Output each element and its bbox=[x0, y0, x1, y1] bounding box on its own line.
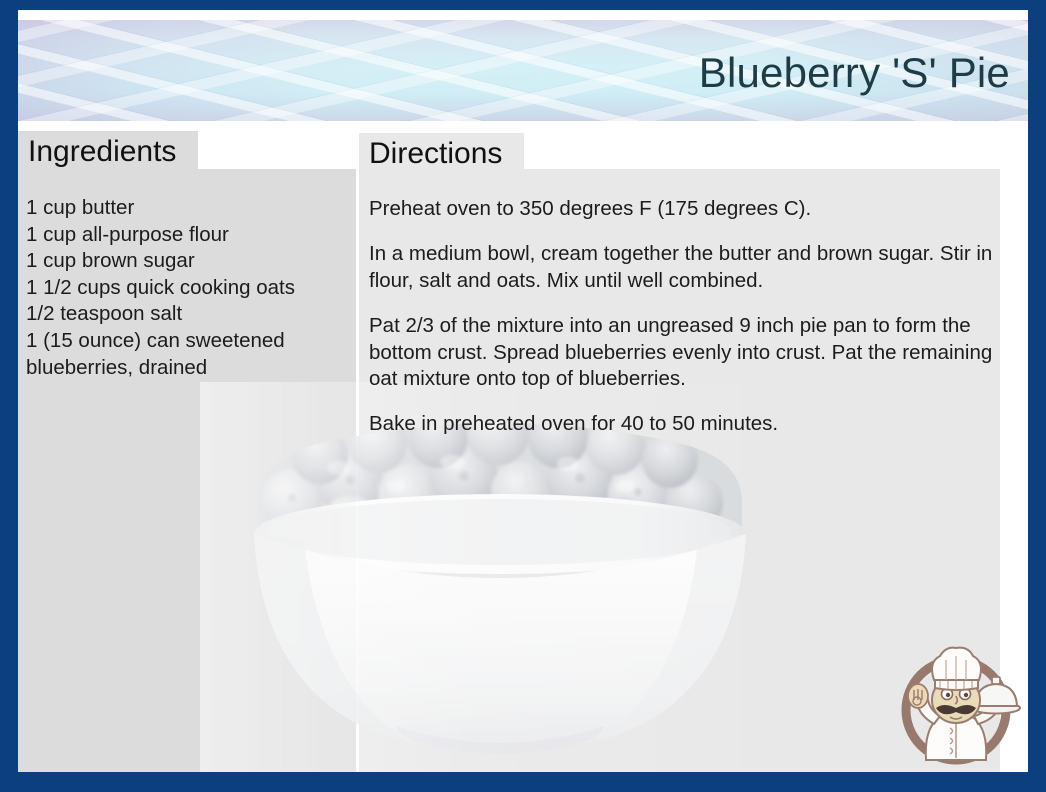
list-item: 1 cup butter bbox=[26, 195, 356, 222]
page-title: Blueberry 'S' Pie bbox=[699, 49, 1010, 97]
direction-step: Pat 2/3 of the mixture into an ungreased… bbox=[369, 313, 1014, 392]
list-item: 1 cup brown sugar bbox=[26, 248, 356, 275]
chef-mascot-logo bbox=[890, 638, 1022, 766]
recipe-slide: Blueberry 'S' Pie bbox=[0, 0, 1046, 792]
direction-step: In a medium bowl, cream together the but… bbox=[369, 241, 1014, 294]
tab-ingredients[interactable]: Ingredients bbox=[18, 131, 198, 174]
direction-step: Preheat oven to 350 degrees F (175 degre… bbox=[369, 196, 1014, 222]
directions-body: Preheat oven to 350 degrees F (175 degre… bbox=[369, 196, 1014, 438]
list-item: 1 1/2 cups quick cooking oats bbox=[26, 275, 356, 302]
direction-step: Bake in preheated oven for 40 to 50 minu… bbox=[369, 411, 1014, 437]
list-item: 1 (15 ounce) can sweetened bbox=[26, 328, 356, 355]
tab-directions[interactable]: Directions bbox=[359, 133, 524, 176]
list-item: blueberries, drained bbox=[26, 355, 356, 382]
list-item: 1 cup all-purpose flour bbox=[26, 222, 356, 249]
ingredients-list: 1 cup butter 1 cup all-purpose flour 1 c… bbox=[26, 195, 356, 381]
list-item: 1/2 teaspoon salt bbox=[26, 301, 356, 328]
recipe-page: Blueberry 'S' Pie bbox=[18, 10, 1028, 772]
header-banner: Blueberry 'S' Pie bbox=[18, 20, 1028, 121]
